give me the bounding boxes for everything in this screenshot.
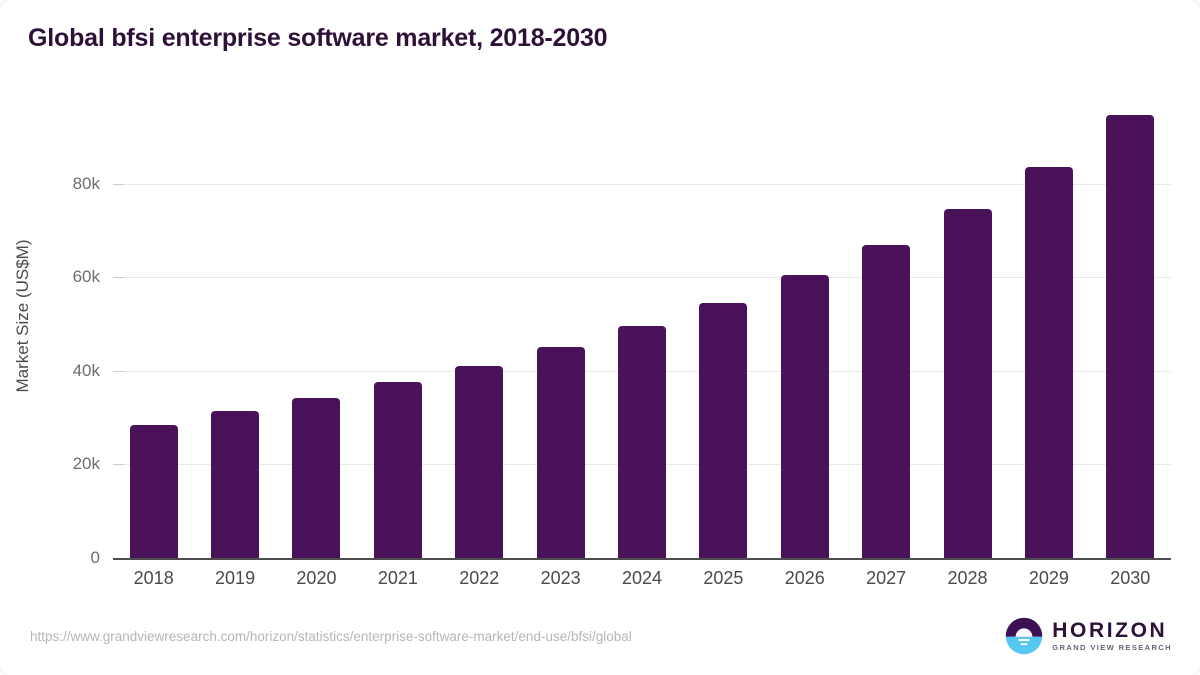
horizon-logo-icon <box>1005 617 1043 655</box>
x-tick-label-2028: 2028 <box>928 568 1008 589</box>
bar-2023[interactable] <box>537 347 585 559</box>
bar-series <box>113 90 1171 559</box>
x-tick-label-2024: 2024 <box>602 568 682 589</box>
logo-wordmark: HORIZON <box>1052 620 1172 641</box>
bar-2018[interactable] <box>130 425 178 559</box>
x-tick-label-2023: 2023 <box>521 568 601 589</box>
bar-2030[interactable] <box>1106 115 1154 559</box>
x-tick-label-2020: 2020 <box>276 568 356 589</box>
chart-card: Global bfsi enterprise software market, … <box>0 0 1200 675</box>
y-tick-label: 0 <box>0 548 100 568</box>
brand-logo: HORIZON GRAND VIEW RESEARCH <box>1005 616 1172 656</box>
bar-2024[interactable] <box>618 326 666 559</box>
x-tick-label-2027: 2027 <box>846 568 926 589</box>
bar-2020[interactable] <box>292 398 340 559</box>
bar-2027[interactable] <box>862 245 910 559</box>
bar-2029[interactable] <box>1025 167 1073 559</box>
y-axis-title: Market Size (US$M) <box>13 81 33 551</box>
page-title: Global bfsi enterprise software market, … <box>28 24 607 53</box>
bar-2026[interactable] <box>781 275 829 559</box>
x-tick-label-2026: 2026 <box>765 568 845 589</box>
x-tick-label-2030: 2030 <box>1090 568 1170 589</box>
x-tick-label-2025: 2025 <box>683 568 763 589</box>
bar-2019[interactable] <box>211 411 259 559</box>
x-tick-label-2019: 2019 <box>195 568 275 589</box>
x-axis-line <box>113 558 1171 560</box>
logo-text: HORIZON GRAND VIEW RESEARCH <box>1052 620 1172 652</box>
x-tick-label-2029: 2029 <box>1009 568 1089 589</box>
x-tick-label-2021: 2021 <box>358 568 438 589</box>
source-url[interactable]: https://www.grandviewresearch.com/horizo… <box>30 629 632 644</box>
x-tick-label-2018: 2018 <box>114 568 194 589</box>
bar-2021[interactable] <box>374 382 422 559</box>
bar-2028[interactable] <box>944 209 992 559</box>
x-tick-label-2022: 2022 <box>439 568 519 589</box>
bar-2022[interactable] <box>455 366 503 559</box>
logo-tagline: GRAND VIEW RESEARCH <box>1052 644 1172 652</box>
bar-2025[interactable] <box>699 303 747 559</box>
